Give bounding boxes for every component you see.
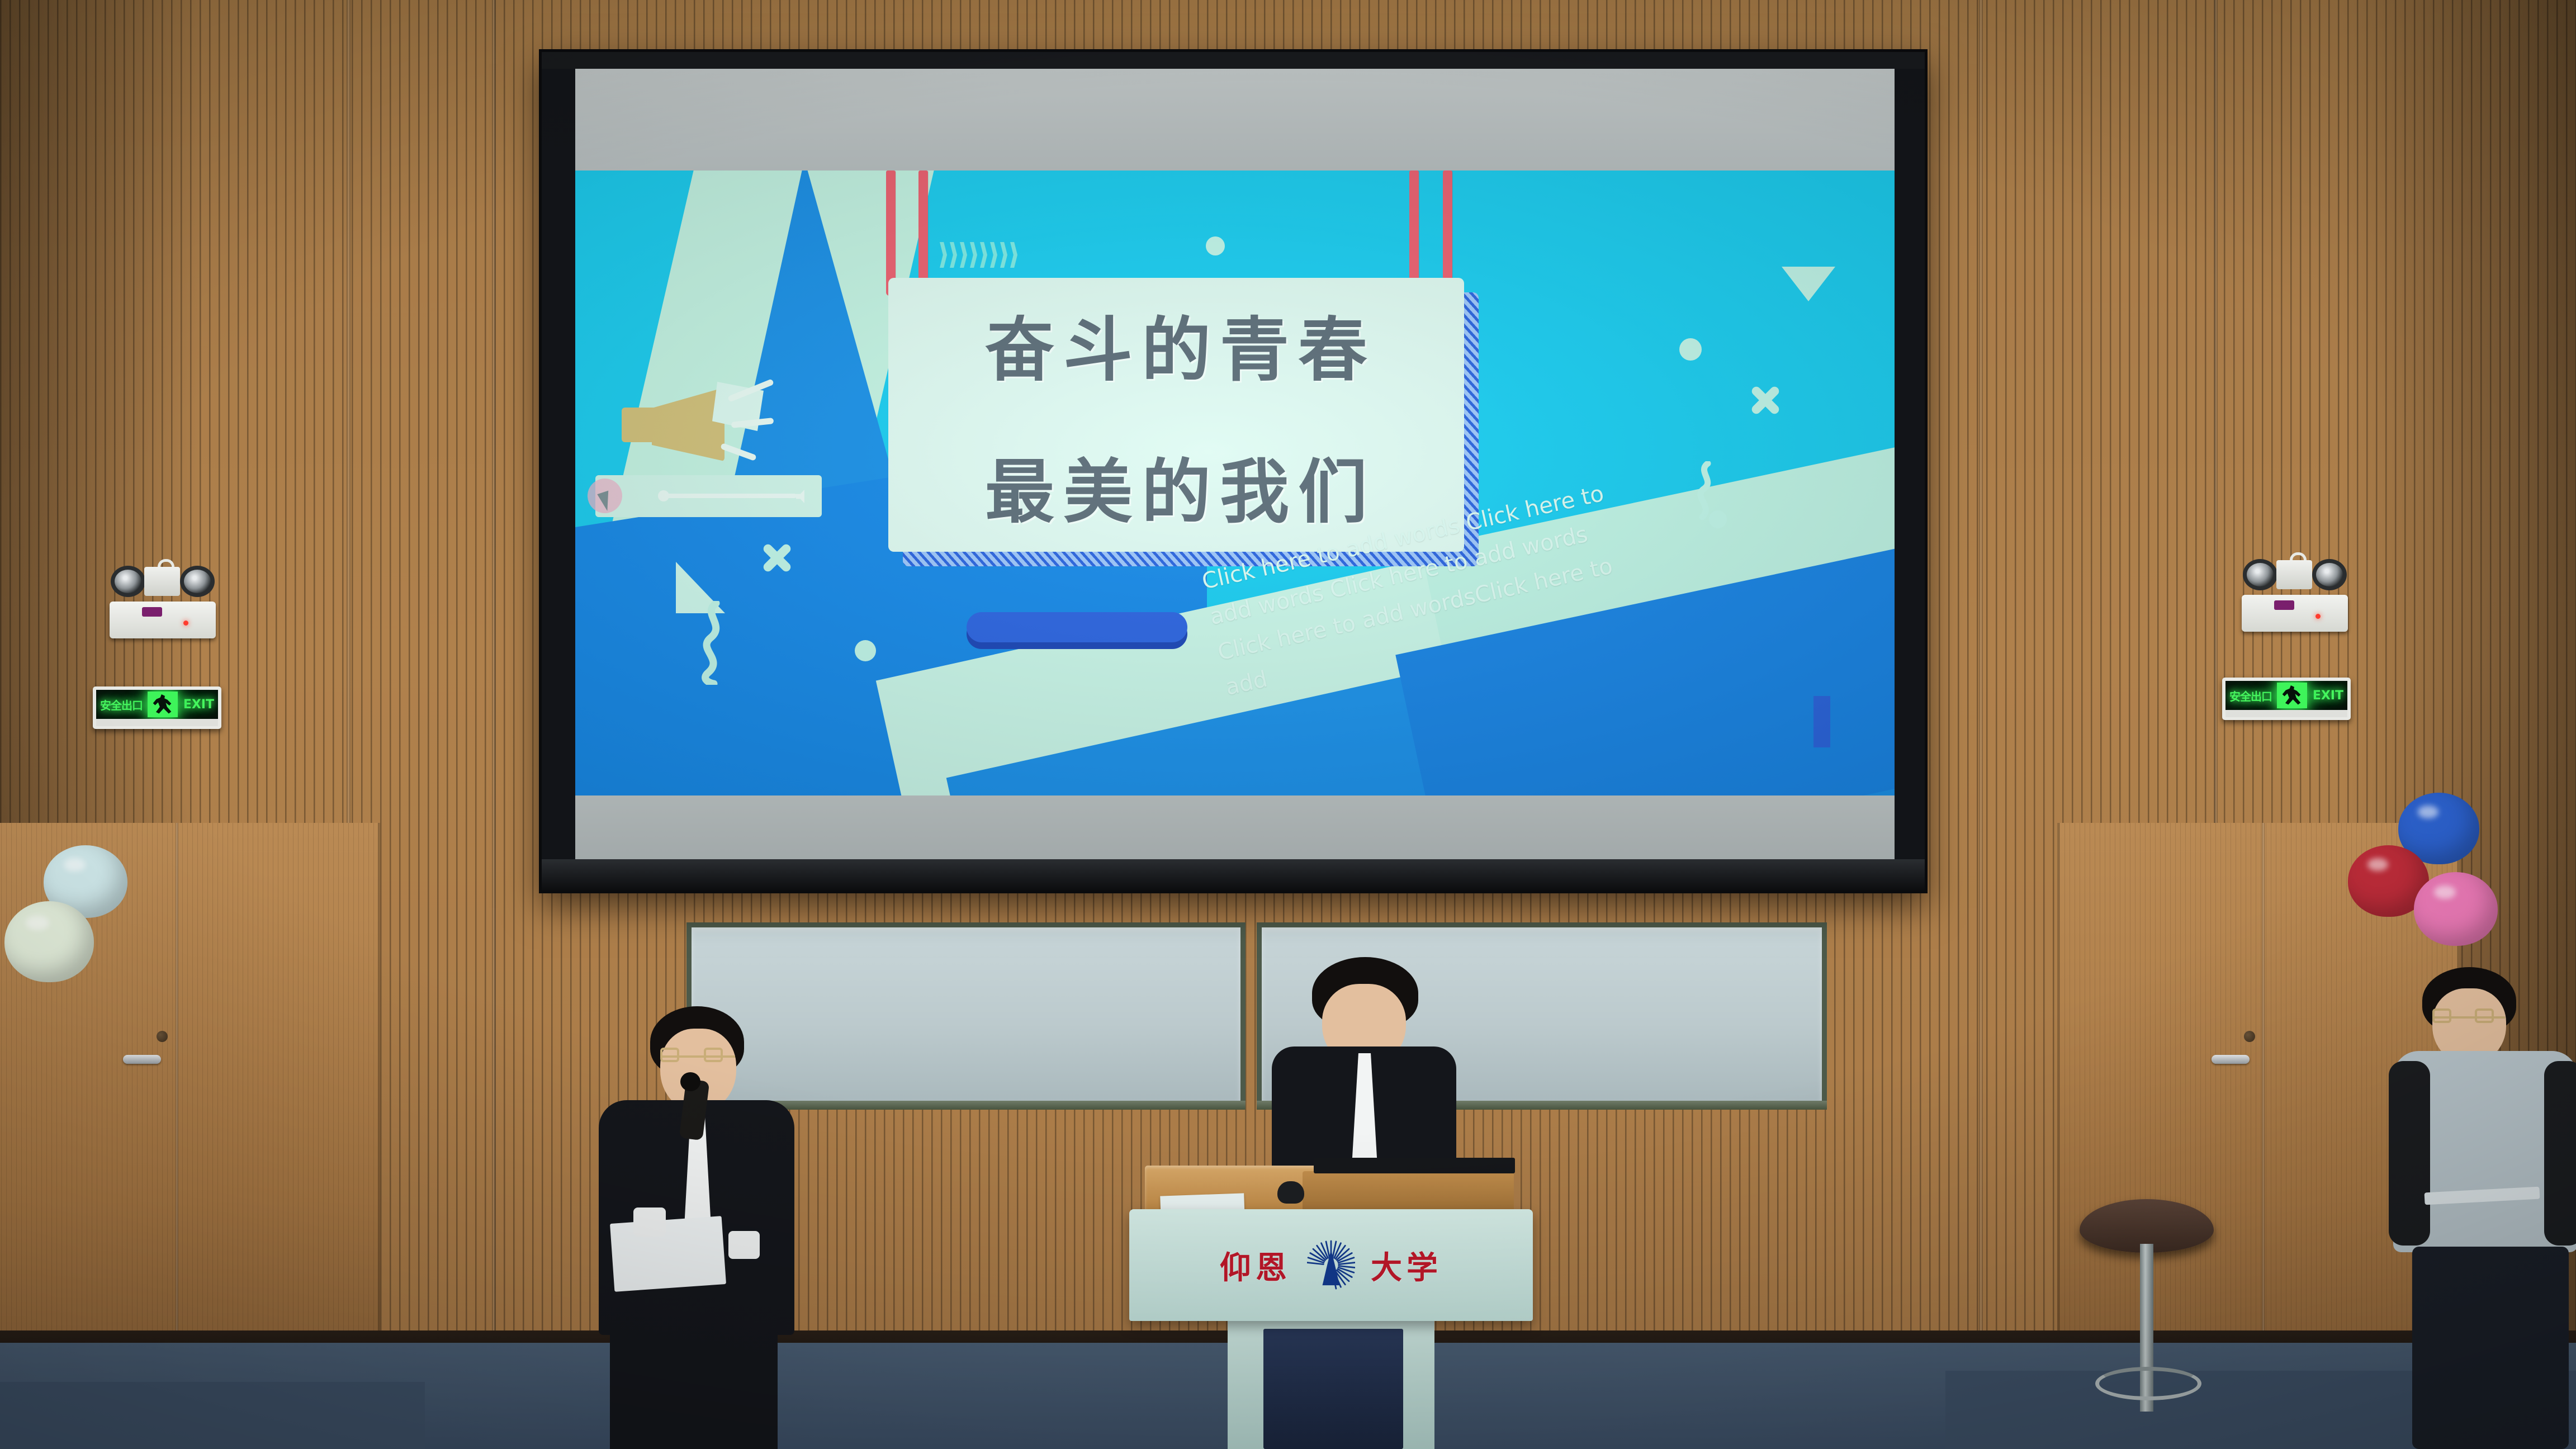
lecture-hall-scene: 安全出口 EXIT 安全出口 EXIT (0, 0, 2576, 1449)
photo-vignette (0, 0, 2576, 1449)
